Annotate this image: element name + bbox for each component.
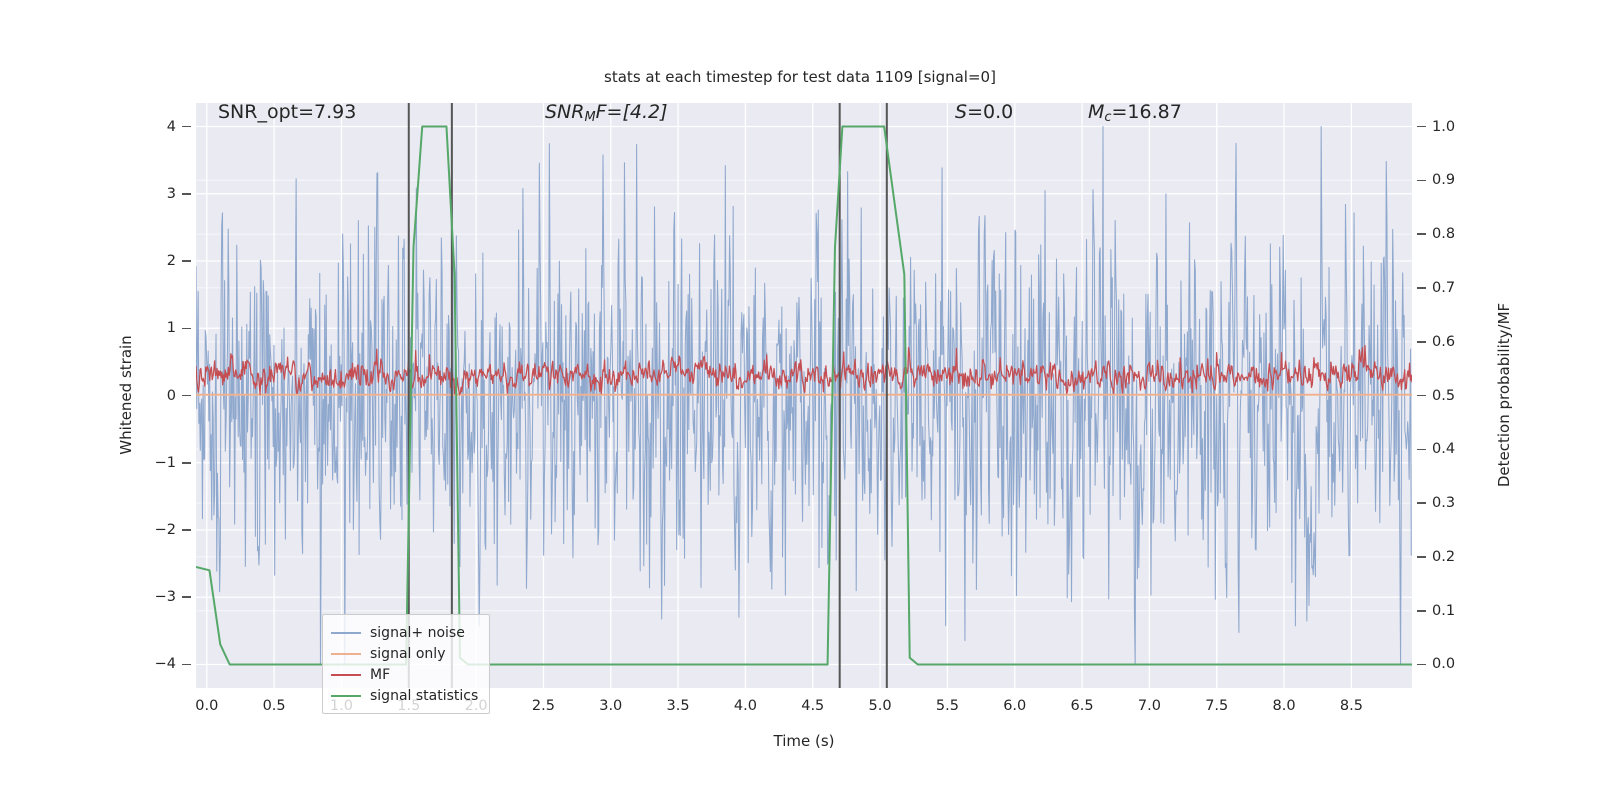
y-tick-mark-right — [1417, 341, 1426, 343]
x-tick-label: 3.0 — [599, 698, 622, 714]
y-tick-mark-right — [1417, 395, 1426, 397]
data-layer — [196, 103, 1412, 688]
annotation-s: S=0.0 — [955, 101, 1013, 123]
annotation-mc-suffix: =16.87 — [1112, 101, 1182, 123]
y-tick-mark-left — [182, 193, 191, 195]
x-tick-label: 2.5 — [532, 698, 555, 714]
x-tick-label: 7.0 — [1138, 698, 1161, 714]
y-tick-mark-left — [182, 596, 191, 598]
y-tick-label-right: 0.1 — [1432, 603, 1455, 619]
plot-area — [196, 103, 1412, 688]
legend-label: signal only — [370, 646, 445, 662]
legend-swatch-icon — [331, 653, 361, 655]
y-tick-label-right: 0.2 — [1432, 549, 1455, 565]
y-tick-mark-left — [182, 529, 191, 531]
y-tick-label-right: 0.9 — [1432, 172, 1455, 188]
annotation-s-suffix: =0.0 — [967, 101, 1013, 123]
legend-label: signal statistics — [370, 688, 478, 704]
y-tick-mark-left — [182, 260, 191, 262]
y-tick-mark-left — [182, 664, 191, 666]
y-tick-label-left: −3 — [128, 589, 176, 605]
y-tick-label-right: 0.6 — [1432, 334, 1455, 350]
y-axis-left-label: Whitened strain — [117, 335, 135, 454]
x-tick-label: 3.5 — [667, 698, 690, 714]
x-tick-label: 5.5 — [936, 698, 959, 714]
y-tick-label-left: 2 — [128, 253, 176, 269]
y-tick-label-right: 1.0 — [1432, 119, 1455, 135]
y-tick-mark-left — [182, 462, 191, 464]
annotation-snr-mf-sub: M — [584, 110, 595, 125]
annotation-mc: Mc=16.87 — [1088, 101, 1182, 125]
figure: stats at each timestep for test data 110… — [0, 0, 1600, 800]
annotation-snr-opt: SNR_opt=7.93 — [218, 101, 356, 123]
x-tick-label: 7.5 — [1205, 698, 1228, 714]
y-tick-label-right: 0.5 — [1432, 388, 1455, 404]
x-tick-label: 5.0 — [869, 698, 892, 714]
y-tick-mark-right — [1417, 502, 1426, 504]
x-tick-label: 8.0 — [1273, 698, 1296, 714]
y-tick-label-right: 0.7 — [1432, 280, 1455, 296]
annotation-snr-mf: SNRMF=[4.2] — [545, 101, 668, 125]
x-axis-label: Time (s) — [774, 732, 835, 750]
y-tick-mark-right — [1417, 449, 1426, 451]
x-tick-label: 0.5 — [263, 698, 286, 714]
annotation-s-prefix: S — [955, 101, 967, 123]
y-tick-label-left: −2 — [128, 522, 176, 538]
y-tick-label-right: 0.8 — [1432, 226, 1455, 242]
x-tick-label: 8.5 — [1340, 698, 1363, 714]
y-tick-mark-right — [1417, 233, 1426, 235]
y-tick-mark-right — [1417, 664, 1426, 666]
y-tick-mark-left — [182, 395, 191, 397]
y-tick-label-left: 1 — [128, 320, 176, 336]
y-tick-label-left: 3 — [128, 186, 176, 202]
legend-item-0[interactable]: signal+ noise — [331, 622, 481, 643]
y-tick-label-left: 4 — [128, 119, 176, 135]
legend-item-3[interactable]: signal statistics — [331, 685, 481, 706]
y-tick-label-right: 0.4 — [1432, 441, 1455, 457]
y-tick-label-right: 0.3 — [1432, 495, 1455, 511]
chart-title: stats at each timestep for test data 110… — [0, 68, 1600, 86]
y-axis-right-label: Detection probability/MF — [1495, 303, 1513, 487]
annotation-mc-sub: c — [1104, 110, 1111, 125]
y-tick-mark-left — [182, 126, 191, 128]
legend-item-2[interactable]: MF — [331, 664, 481, 685]
legend-label: signal+ noise — [370, 625, 465, 641]
x-tick-label: 4.5 — [801, 698, 824, 714]
annotation-snr-mf-prefix: SNR — [545, 101, 584, 123]
y-tick-mark-right — [1417, 287, 1426, 289]
legend-swatch-icon — [331, 674, 361, 676]
x-tick-label: 6.0 — [1003, 698, 1026, 714]
x-tick-label: 6.5 — [1071, 698, 1094, 714]
legend-swatch-icon — [331, 632, 361, 634]
x-tick-label: 0.0 — [195, 698, 218, 714]
legend-swatch-icon — [331, 695, 361, 697]
chart-legend: signal+ noisesignal onlyMFsignal statist… — [322, 614, 490, 714]
y-tick-label-left: −1 — [128, 455, 176, 471]
annotation-snr-mf-suffix: F=[4.2] — [596, 101, 668, 123]
y-tick-mark-right — [1417, 126, 1426, 128]
x-tick-label: 4.0 — [734, 698, 757, 714]
annotation-mc-prefix: M — [1088, 101, 1104, 123]
legend-label: MF — [370, 667, 390, 683]
y-tick-mark-right — [1417, 556, 1426, 558]
y-tick-label-left: −4 — [128, 656, 176, 672]
y-tick-mark-left — [182, 328, 191, 330]
y-tick-mark-right — [1417, 180, 1426, 182]
y-tick-label-left: 0 — [128, 388, 176, 404]
y-tick-label-right: 0.0 — [1432, 656, 1455, 672]
legend-item-1[interactable]: signal only — [331, 643, 481, 664]
y-tick-mark-right — [1417, 610, 1426, 612]
